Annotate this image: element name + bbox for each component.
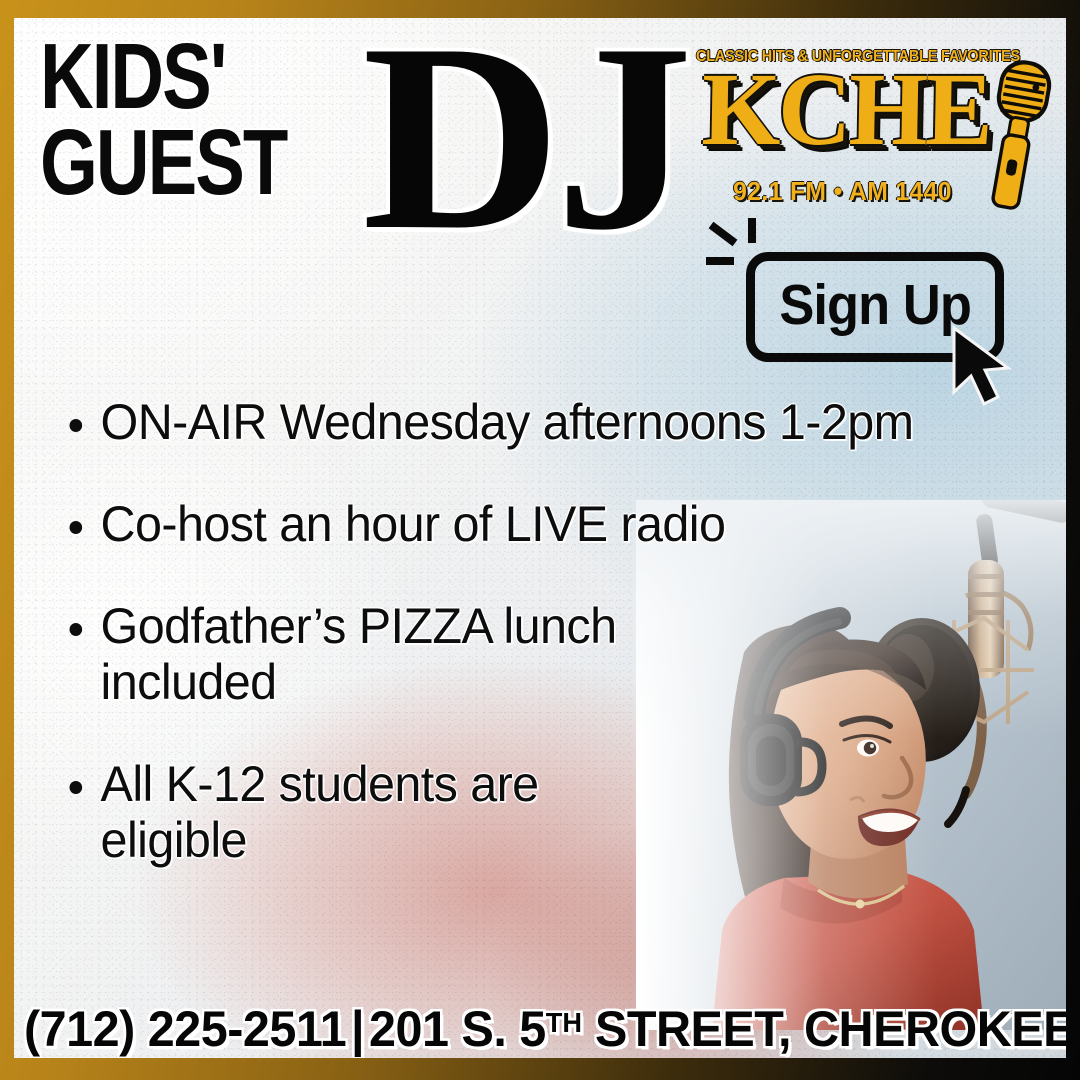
kche-frequencies: 92.1 FM • AM 1440 [700,176,985,207]
footer-phone: (712) 225-2511 [24,1001,346,1057]
bullet-line-2: included [101,654,1034,710]
retro-microphone-icon [980,52,1054,222]
bullet-line-1: All K-12 students are [101,756,539,812]
poster-canvas: KIDS' GUEST DJ CLASSIC HITS & UNFORGETTA… [14,18,1066,1058]
footer-address-pre: 201 S. 5 [369,1001,546,1057]
footer-separator: | [346,1001,369,1057]
mouse-cursor-icon [946,324,1018,408]
headline-dj: DJ [362,32,687,241]
benefits-list: ON-AIR Wednesday afternoons 1-2pm Co-hos… [54,394,1064,868]
poster-root: KIDS' GUEST DJ CLASSIC HITS & UNFORGETTA… [0,0,1080,1080]
footer-contact-bar: (712) 225-2511|201 S. 5TH STREET, CHEROK… [14,998,1066,1058]
headline-line-guest: GUEST [40,120,286,206]
headline-block: KIDS' GUEST [40,34,348,205]
footer-address-ordinal: TH [546,1007,582,1038]
bullet-line-1: Co-host an hour of LIVE radio [101,496,726,552]
list-item: Godfather’s PIZZA lunch included [54,598,1034,710]
signup-cta-group[interactable]: Sign Up [704,214,1034,404]
kche-callsign: KCHE [690,58,1001,162]
kche-station-logo: CLASSIC HITS & UNFORGETTABLE FAVORITES K… [690,36,1052,221]
list-item: All K-12 students are eligible [54,756,1034,868]
headline-line-kids: KIDS' [40,34,286,120]
bullet-line-2: eligible [101,812,1034,868]
footer-contact-text: (712) 225-2511|201 S. 5TH STREET, CHEROK… [24,1000,1066,1058]
footer-address-post: STREET, CHEROKEE [582,1001,1066,1057]
signup-button-label: Sign Up [779,272,971,338]
bullet-line-1: Godfather’s PIZZA lunch [101,598,617,654]
list-item: Co-host an hour of LIVE radio [54,496,1034,552]
